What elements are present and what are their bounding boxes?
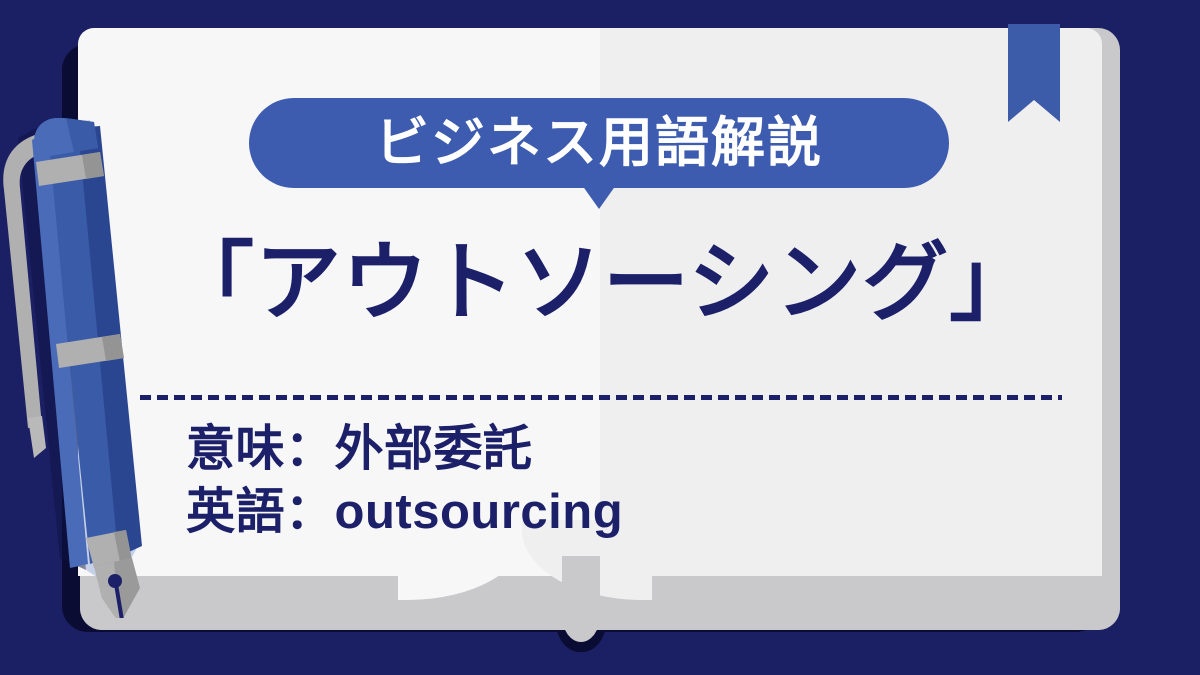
fountain-pen-icon [0, 118, 144, 618]
category-badge: ビジネス用語解説 [249, 98, 949, 188]
definition-list: 意味：外部委託 英語：outsourcing [186, 418, 623, 543]
slide-canvas: ビジネス用語解説 「アウトソーシング」 意味：外部委託 英語：outsourci… [0, 0, 1200, 675]
definition-label-meaning: 意味 [186, 422, 285, 476]
definition-separator-meaning: ： [285, 422, 335, 476]
category-badge-pointer [582, 185, 616, 209]
definition-value-english: outsourcing [335, 485, 624, 539]
category-badge-label: ビジネス用語解説 [375, 116, 823, 170]
definition-value-meaning: 外部委託 [335, 422, 533, 476]
book-spine-dip [562, 556, 600, 642]
page-title: 「アウトソーシング」 [168, 238, 1068, 328]
definition-row-english: 英語：outsourcing [186, 481, 623, 544]
bookmark-ribbon-icon [1008, 24, 1060, 100]
dashed-divider [140, 395, 1062, 400]
definition-label-english: 英語 [186, 485, 285, 539]
definition-row-meaning: 意味：外部委託 [186, 418, 623, 481]
definition-separator-english: ： [285, 485, 335, 539]
